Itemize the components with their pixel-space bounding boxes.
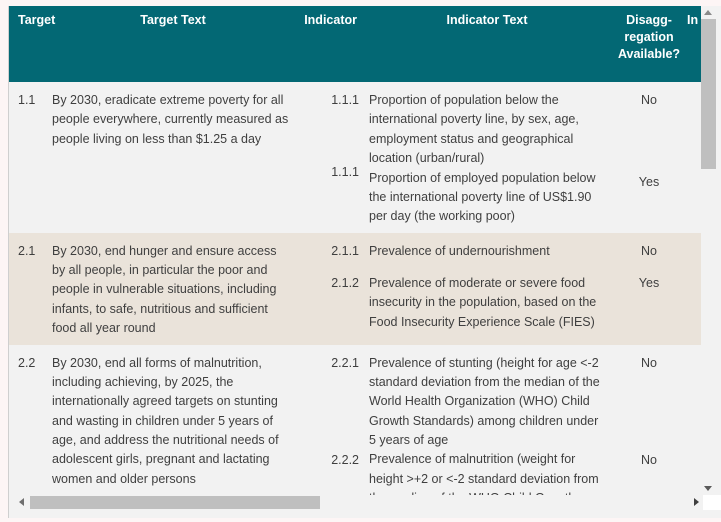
indicator-text: Prevalence of malnutrition (weight for h… [369,450,607,495]
sdg-indicator-table: Target Target Text Indicator Indicator T… [9,6,702,495]
indicator-text: Prevalence of moderate or severe food in… [369,274,607,332]
header-row: Target Target Text Indicator Indicator T… [9,6,702,82]
horizontal-scroll-thumb[interactable] [30,496,320,509]
column-header-indicator-text[interactable]: Indicator Text [361,6,613,82]
table-row[interactable]: 2.1 By 2030, end hunger and ensure acces… [9,233,702,345]
cell-indicator-numbers: 2.1.1 2.1.2 [299,233,361,345]
column-header-truncated[interactable]: In [685,6,702,82]
indicator-number: 1.1.1 [303,163,359,182]
indicator-text: Proportion of employed population below … [369,169,607,227]
scrollbar-corner [703,495,721,510]
disaggregation-value: Yes [617,173,681,192]
indicator-text: Prevalence of undernourishment [369,242,607,261]
indicator-text: Proportion of population below the inter… [369,91,607,169]
disaggregation-value: No [617,354,681,373]
column-header-target-text[interactable]: Target Text [47,6,299,82]
cell-disaggregation-values: No Yes [613,233,685,345]
cell-target-text: By 2030, eradicate extreme poverty for a… [47,82,299,233]
indicator-text: Prevalence of stunting (height for age <… [369,354,607,451]
column-header-indicator[interactable]: Indicator [299,6,361,82]
cell-disaggregation-values: No Yes [613,82,685,233]
cell-disaggregation-values: No No [613,345,685,496]
cell-indicator-texts: Prevalence of stunting (height for age <… [361,345,613,496]
disagg-line-1: Disagg- [626,13,672,27]
disagg-line-3: Available? [618,47,680,61]
disaggregation-value: No [617,242,681,261]
cell-truncated-column [685,345,702,496]
scroll-left-arrow-icon[interactable] [14,495,29,510]
horizontal-scrollbar[interactable] [9,495,721,510]
table-header: Target Target Text Indicator Indicator T… [9,6,702,82]
scroll-down-arrow-icon[interactable] [701,482,716,495]
cell-target: 2.1 [9,233,47,345]
cell-indicator-texts: Proportion of population below the inter… [361,82,613,233]
column-header-target[interactable]: Target [9,6,47,82]
vertical-scrollbar[interactable] [701,6,716,495]
vertical-scroll-thumb[interactable] [701,19,716,169]
cell-truncated-column [685,82,702,233]
cell-truncated-column [685,233,702,345]
indicator-number: 1.1.1 [303,91,359,110]
indicator-number: 2.2.2 [303,451,359,470]
indicator-number: 2.1.2 [303,274,359,293]
disagg-line-2: regation [624,30,673,44]
cell-target-text: By 2030, end hunger and ensure access by… [47,233,299,345]
scroll-up-arrow-icon[interactable] [701,6,716,19]
cell-indicator-numbers: 2.2.1 2.2.2 [299,345,361,496]
column-header-disaggregation[interactable]: Disagg- regation Available? [613,6,685,82]
table-scroll-area[interactable]: Target Target Text Indicator Indicator T… [9,6,702,495]
table-row[interactable]: 2.2 By 2030, end all forms of malnutriti… [9,345,702,496]
disaggregation-value: Yes [617,274,681,293]
scroll-right-arrow-icon[interactable] [689,495,704,510]
cell-target: 1.1 [9,82,47,233]
table-row[interactable]: 1.1 By 2030, eradicate extreme poverty f… [9,82,702,233]
table-body: 1.1 By 2030, eradicate extreme poverty f… [9,82,702,495]
disaggregation-value: No [617,451,681,470]
disaggregation-value: No [617,91,681,110]
indicator-number: 2.2.1 [303,354,359,373]
cell-indicator-numbers: 1.1.1 1.1.1 [299,82,361,233]
cell-indicator-texts: Prevalence of undernourishment Prevalenc… [361,233,613,345]
cell-target-text: By 2030, end all forms of malnutrition, … [47,345,299,496]
table-viewer-panel: Target Target Text Indicator Indicator T… [8,6,721,518]
indicator-number: 2.1.1 [303,242,359,261]
cell-target: 2.2 [9,345,47,496]
